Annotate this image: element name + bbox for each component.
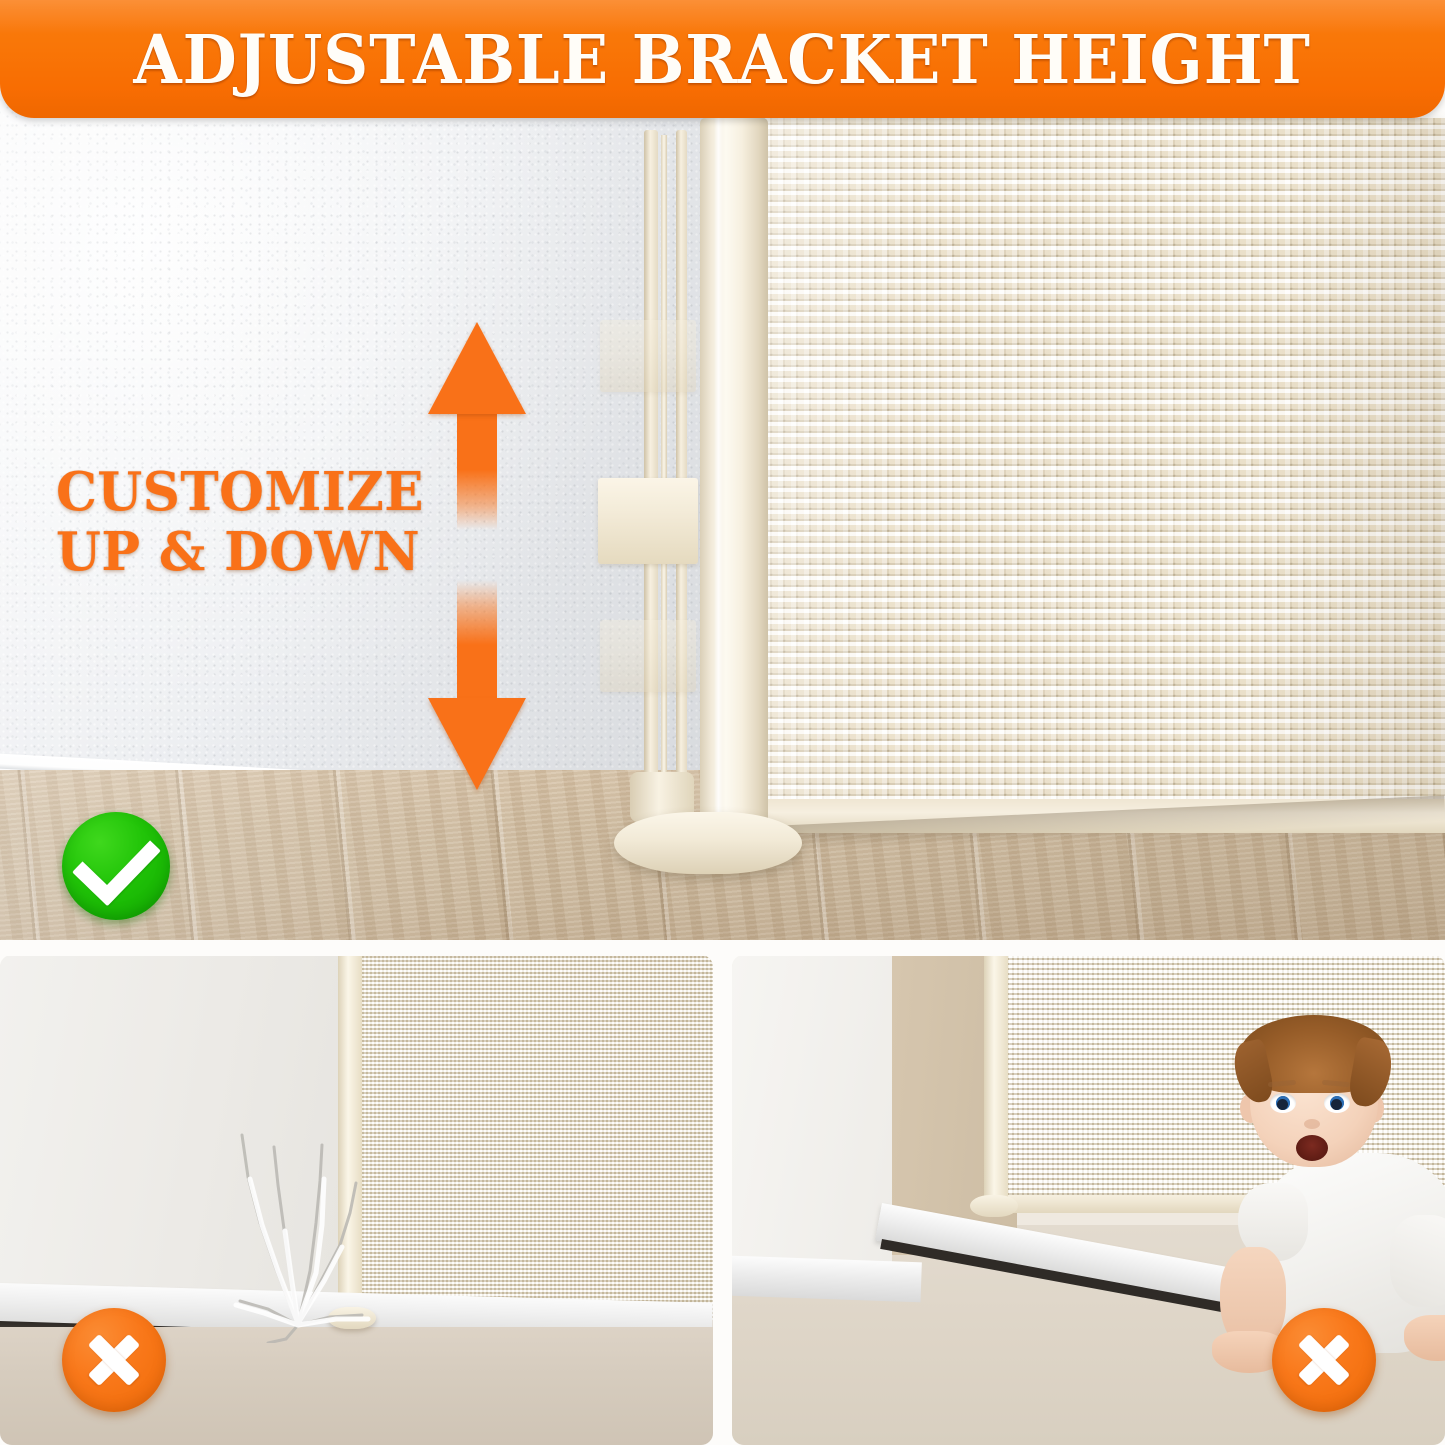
header-banner: ADJUSTABLE BRACKET HEIGHT: [0, 0, 1445, 118]
baby-nose: [1304, 1119, 1320, 1129]
baby-pupil-right: [1331, 1099, 1342, 1110]
gate-base-foot: [614, 812, 802, 874]
wall-shading: [0, 0, 790, 830]
gate-mesh-panel: [765, 118, 1445, 833]
wall-crack-icon: [198, 1073, 398, 1343]
wall-damage-panel: [0, 955, 713, 1445]
hero-panel: CUSTOMIZE UP & DOWN: [0, 0, 1445, 948]
down-arrow-icon: [428, 580, 526, 790]
mesh-shading: [765, 118, 1445, 833]
hazard-wall-left: [732, 955, 892, 1285]
up-arrow-icon: [428, 322, 526, 530]
hazard-gate-post: [984, 955, 1008, 1210]
baby-sleeve-right: [1390, 1215, 1445, 1307]
x-badge-wall-damage: [62, 1308, 166, 1412]
post-highlight: [714, 118, 723, 833]
up-arrow-head: [428, 322, 526, 414]
up-arrow-tail: [457, 414, 497, 530]
headline-line-2: UP & DOWN: [56, 522, 424, 582]
gap-hazard-panel: [732, 955, 1445, 1445]
down-arrow-tail: [457, 580, 497, 698]
product-infographic: ADJUSTABLE BRACKET HEIGHT: [0, 0, 1445, 1445]
x-badge-gap-hazard: [1272, 1308, 1376, 1412]
baby-hand-right: [1404, 1315, 1445, 1361]
banner-title: ADJUSTABLE BRACKET HEIGHT: [134, 20, 1311, 99]
panel-row-divider: [0, 940, 1445, 956]
down-arrow-head: [428, 698, 526, 790]
baby-pupil-left: [1277, 1099, 1288, 1110]
damage-mesh-texture: [352, 955, 713, 1320]
check-icon: [72, 816, 161, 905]
wall-surface: [0, 0, 790, 830]
x-icon: [85, 1331, 143, 1389]
hero-headline: CUSTOMIZE UP & DOWN: [56, 462, 435, 583]
headline-line-1: CUSTOMIZE: [56, 462, 424, 522]
damage-mesh-area: [352, 955, 713, 1320]
gate-main-post: [700, 118, 768, 838]
bracket-position-middle[interactable]: [598, 478, 698, 564]
hazard-baseboard-left: [732, 1255, 922, 1302]
bracket-position-top[interactable]: [600, 320, 696, 392]
check-badge: [62, 812, 170, 920]
bottom-panel-divider: [713, 955, 732, 1445]
hazard-post-foot: [970, 1195, 1018, 1217]
bracket-position-bottom[interactable]: [600, 620, 696, 692]
baby-mouth: [1296, 1135, 1328, 1161]
x-icon: [1295, 1331, 1353, 1389]
